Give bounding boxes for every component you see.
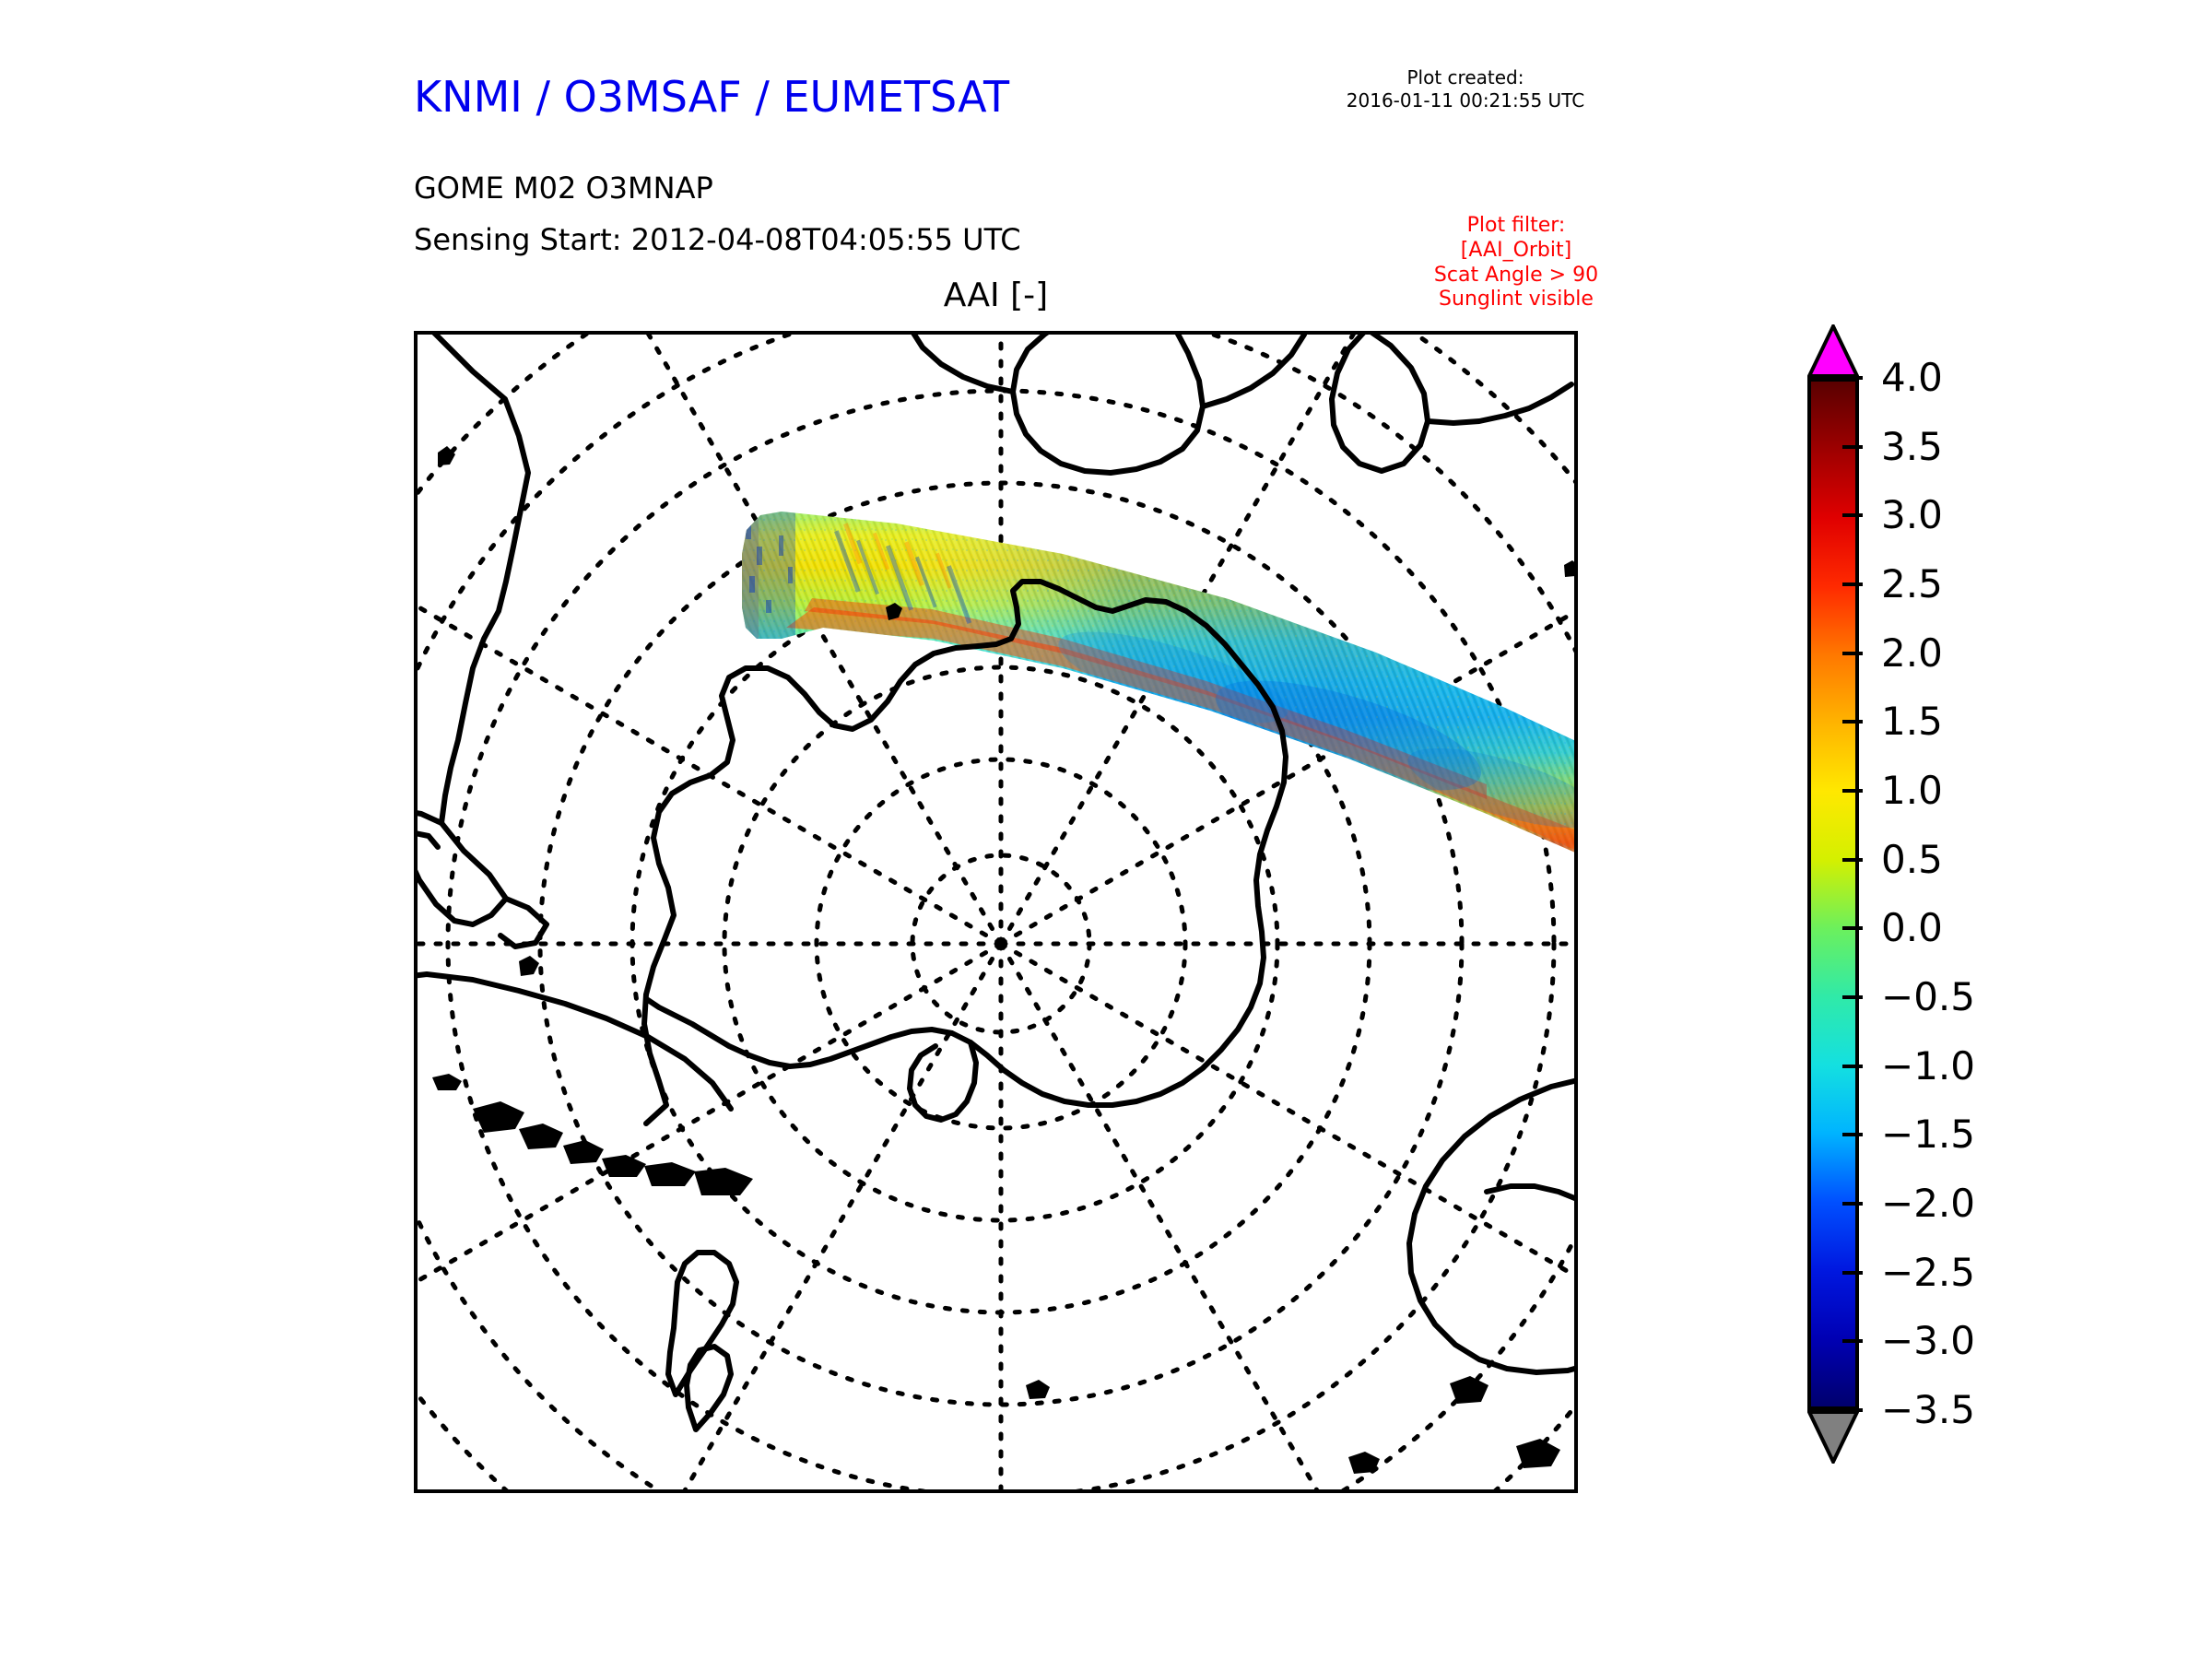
colorbar-tick bbox=[1842, 1339, 1863, 1343]
chart-title: AAI [-] bbox=[414, 276, 1578, 314]
plot-created-block: Plot created: 2016-01-11 00:21:55 UTC bbox=[1281, 66, 1650, 112]
colorbar-tick bbox=[1842, 926, 1863, 930]
colorbar-gradient-bar bbox=[1807, 378, 1859, 1410]
colorbar-tick-label: −3.5 bbox=[1881, 1391, 1975, 1430]
colorbar-tick bbox=[1842, 376, 1863, 380]
colorbar-tick bbox=[1842, 1408, 1863, 1412]
colorbar-tick bbox=[1842, 858, 1863, 862]
colorbar-tick-label: −2.5 bbox=[1881, 1253, 1975, 1292]
plot-filter-line-2: [AAI_Orbit] bbox=[1382, 239, 1650, 264]
colorbar-tick-label: −0.5 bbox=[1881, 978, 1975, 1017]
plot-created-label: Plot created: bbox=[1281, 66, 1650, 89]
colorbar-tick bbox=[1842, 445, 1863, 449]
colorbar-tick-label: −1.0 bbox=[1881, 1047, 1975, 1086]
colorbar-tick bbox=[1842, 1065, 1863, 1068]
aai-swath bbox=[694, 473, 1578, 906]
colorbar-tick-label: 0.5 bbox=[1881, 841, 1943, 879]
colorbar-tick-label: 3.0 bbox=[1881, 496, 1943, 535]
colorbar-tick bbox=[1842, 995, 1863, 999]
colorbar-tick-label: 4.0 bbox=[1881, 359, 1943, 397]
colorbar-over-range-arrow bbox=[1807, 324, 1859, 378]
colorbar-tick bbox=[1842, 720, 1863, 724]
graticule-meridians bbox=[418, 335, 1578, 1493]
colorbar-tick-label: 2.0 bbox=[1881, 634, 1943, 673]
colorbar-tick-label: 0.0 bbox=[1881, 909, 1943, 947]
colorbar-tick bbox=[1842, 1271, 1863, 1275]
under-arrow-icon bbox=[1807, 1410, 1859, 1464]
colorbar-tick bbox=[1842, 1202, 1863, 1206]
instrument-label: GOME M02 O3MNAP bbox=[414, 171, 713, 206]
plot-created-timestamp: 2016-01-11 00:21:55 UTC bbox=[1281, 89, 1650, 112]
over-arrow-icon bbox=[1807, 324, 1859, 378]
plot-filter-line-1: Plot filter: bbox=[1382, 214, 1650, 239]
map-canvas bbox=[418, 335, 1578, 1493]
colorbar-under-range-arrow bbox=[1807, 1410, 1859, 1464]
colorbar-tick-label: 3.5 bbox=[1881, 428, 1943, 466]
colorbar-tick bbox=[1842, 513, 1863, 517]
colorbar-tick-label: −1.5 bbox=[1881, 1115, 1975, 1154]
graticule-latitude-circles bbox=[418, 335, 1578, 1493]
sensing-start-label: Sensing Start: 2012-04-08T04:05:55 UTC bbox=[414, 222, 1021, 257]
colorbar-tick bbox=[1842, 789, 1863, 793]
colorbar-tick bbox=[1842, 652, 1863, 655]
map-plot-area bbox=[414, 331, 1578, 1493]
colorbar: 4.03.53.02.52.01.51.00.50.0−0.5−1.0−1.5−… bbox=[1802, 324, 2189, 1513]
colorbar-tick bbox=[1842, 582, 1863, 586]
colorbar-tick-label: 1.0 bbox=[1881, 771, 1943, 810]
colorbar-tick-label: −2.0 bbox=[1881, 1184, 1975, 1223]
colorbar-tick bbox=[1842, 1133, 1863, 1136]
coastlines bbox=[418, 335, 1578, 1474]
page-title: KNMI / O3MSAF / EUMETSAT bbox=[414, 72, 1009, 122]
colorbar-tick-label: 2.5 bbox=[1881, 565, 1943, 604]
colorbar-tick-label: −3.0 bbox=[1881, 1322, 1975, 1360]
colorbar-tick-label: 1.5 bbox=[1881, 702, 1943, 741]
